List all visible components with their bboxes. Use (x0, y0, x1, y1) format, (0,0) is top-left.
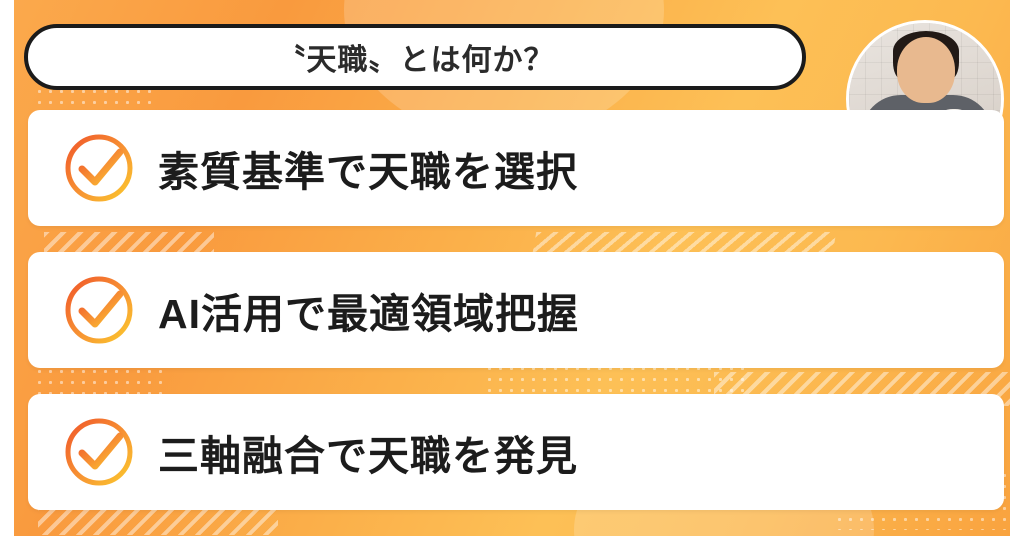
list-item: 三軸融合で天職を発見 (28, 394, 1004, 510)
list-item-label: 三軸融合で天職を発見 (158, 422, 578, 482)
check-circle-icon (62, 273, 136, 347)
list-item-label: 素質基準で天職を選択 (158, 138, 578, 198)
check-circle-icon (62, 415, 136, 489)
avatar-face (897, 37, 955, 103)
list-item: 素質基準で天職を選択 (28, 110, 1004, 226)
slide-canvas: 〝天職〟とは何か？ 素 (0, 0, 1024, 536)
list-item: AI活用で最適領域把握 (28, 252, 1004, 368)
check-circle-icon (62, 131, 136, 205)
title-pill: 〝天職〟とは何か？ (24, 24, 806, 90)
list-item-label: AI活用で最適領域把握 (158, 280, 579, 340)
page-title: 〝天職〟とは何か？ (276, 35, 555, 79)
